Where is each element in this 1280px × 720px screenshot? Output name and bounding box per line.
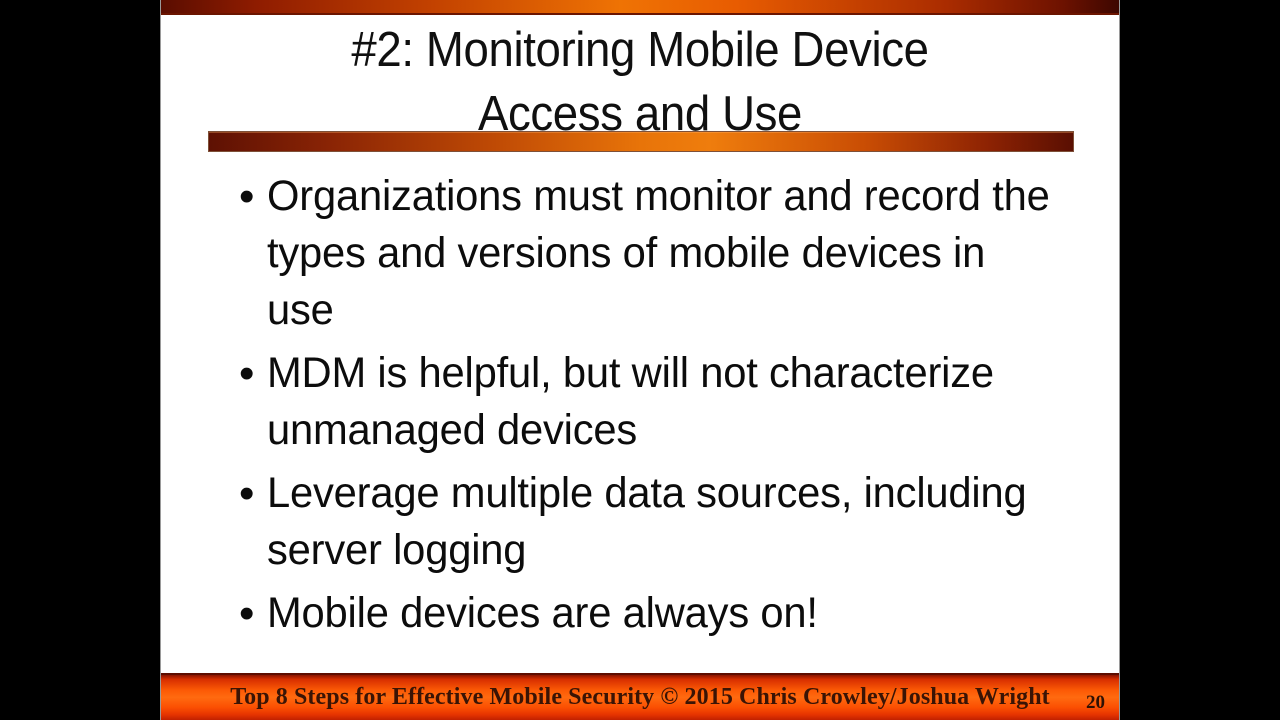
list-item: • MDM is helpful, but will not character… [239, 345, 1085, 459]
slide-title: #2: Monitoring Mobile Device Access and … [161, 18, 1119, 146]
slide-top-gradient-band [161, 0, 1119, 15]
list-item: • Mobile devices are always on! [239, 585, 1085, 642]
bullet-dot-icon: • [239, 465, 267, 522]
bullet-dot-icon: • [239, 345, 267, 402]
list-item: • Leverage multiple data sources, includ… [239, 465, 1085, 579]
title-line-1: #2: Monitoring Mobile Device [217, 18, 1063, 82]
slide-page-number: 20 [1086, 692, 1105, 714]
video-letterbox-viewport: #2: Monitoring Mobile Device Access and … [0, 0, 1280, 720]
bullet-text: Leverage multiple data sources, includin… [267, 465, 1060, 579]
presentation-slide: #2: Monitoring Mobile Device Access and … [160, 0, 1120, 720]
bullet-text: Organizations must monitor and record th… [267, 168, 1060, 339]
bullet-dot-icon: • [239, 168, 267, 225]
list-item: • Organizations must monitor and record … [239, 168, 1085, 339]
slide-footer-band: Top 8 Steps for Effective Mobile Securit… [161, 673, 1119, 720]
title-underline-gradient-bar [208, 131, 1074, 152]
footer-copyright-text: Top 8 Steps for Effective Mobile Securit… [230, 684, 1050, 711]
bullet-text: Mobile devices are always on! [267, 585, 1060, 642]
bullet-dot-icon: • [239, 585, 267, 642]
bullet-text: MDM is helpful, but will not characteriz… [267, 345, 1060, 459]
slide-bullet-list: • Organizations must monitor and record … [161, 168, 1119, 648]
